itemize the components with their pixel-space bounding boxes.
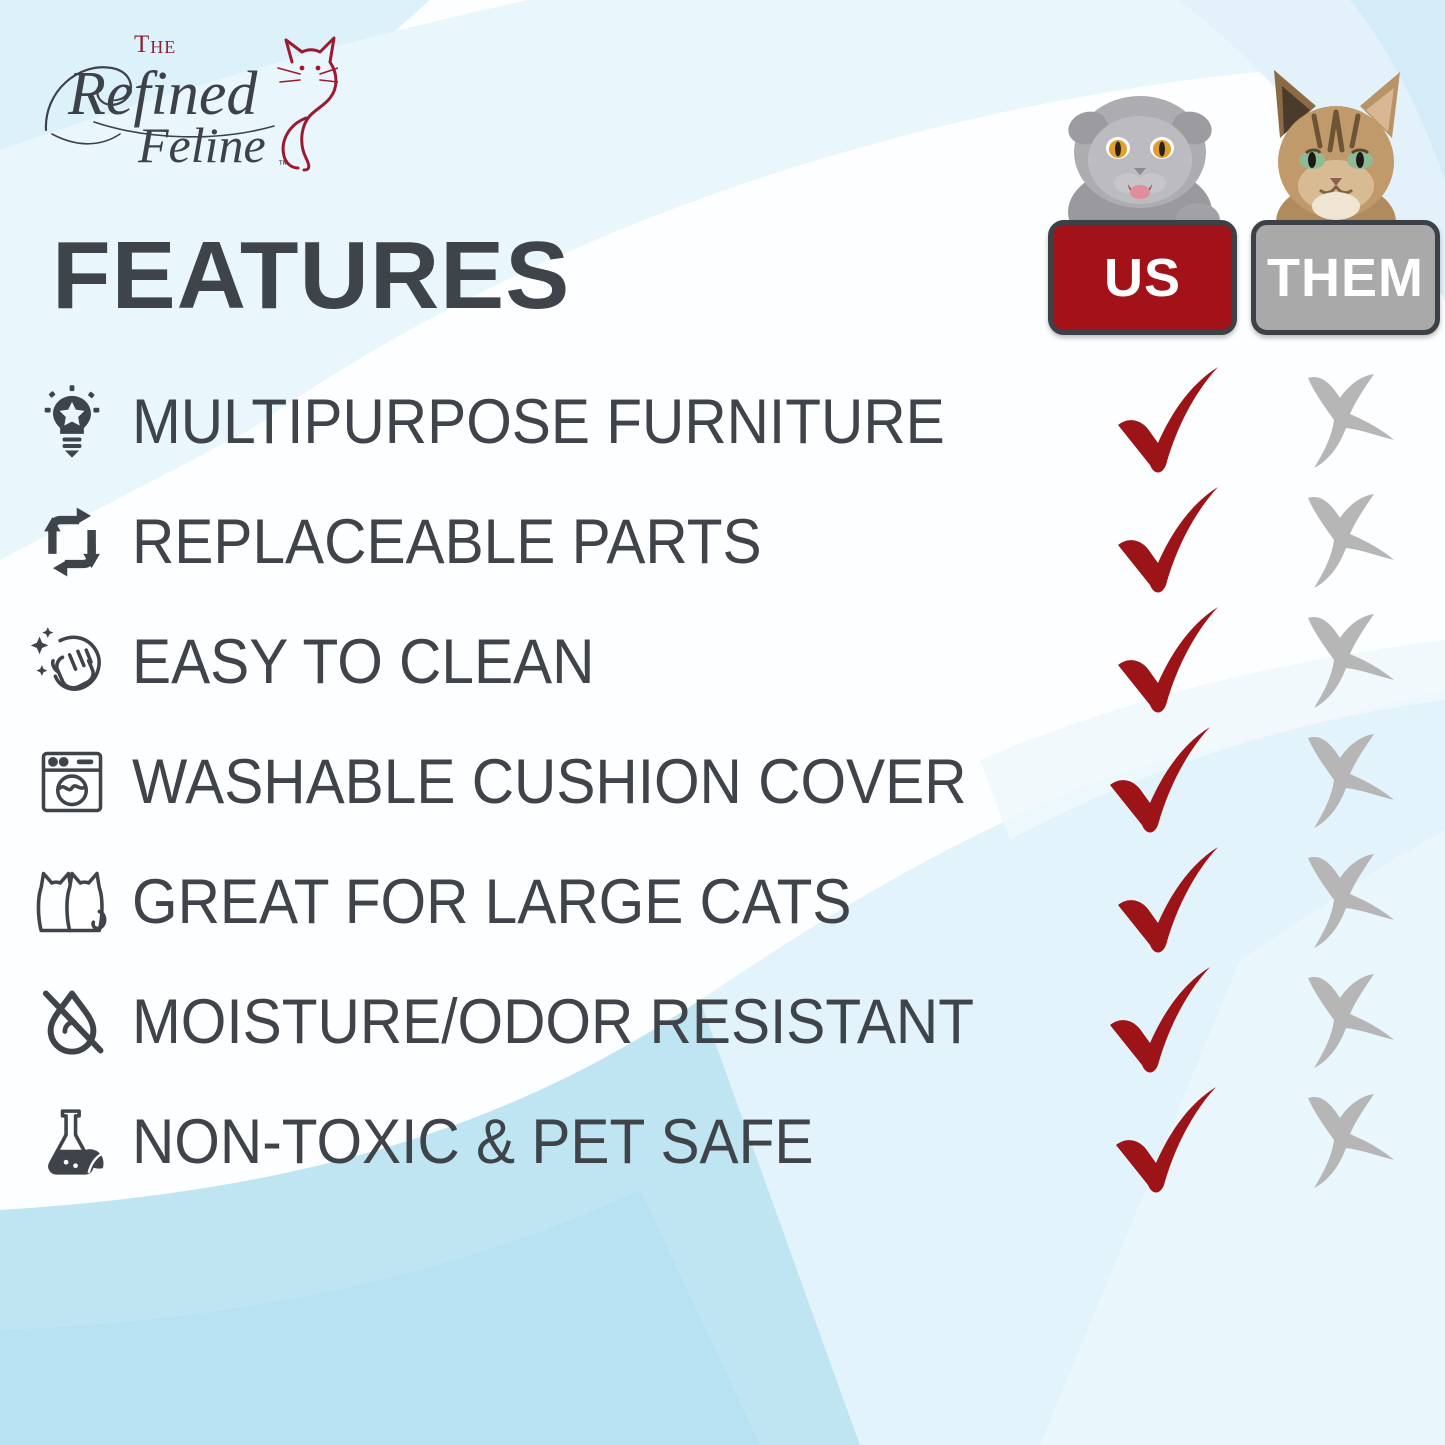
two-cats-icon — [30, 860, 114, 944]
gray-cross-icon — [1296, 852, 1406, 952]
svg-text:Feline: Feline — [137, 117, 266, 173]
flask-leaf-icon — [30, 1100, 114, 1184]
feature-row: GREAT FOR LARGE CATS — [0, 842, 1445, 962]
them-cat-photo — [1244, 54, 1429, 244]
feature-label: WASHABLE CUSHION COVER — [132, 746, 1029, 818]
red-check-icon — [1108, 1087, 1228, 1197]
feature-label: MOISTURE/ODOR RESISTANT — [132, 986, 1037, 1058]
gray-cross-icon — [1296, 492, 1406, 592]
gray-cross-icon — [1296, 612, 1406, 712]
feature-label: NON-TOXIC & PET SAFE — [132, 1106, 865, 1178]
us-cat-photo — [1048, 52, 1233, 242]
red-check-icon — [1110, 847, 1230, 957]
svg-text:THE: THE — [134, 31, 176, 58]
lightbulb-star-icon — [30, 380, 114, 464]
feature-row: MULTIPURPOSE FURNITURE — [0, 362, 1445, 482]
cleaning-hand-icon — [30, 620, 114, 704]
feature-row: REPLACEABLE PARTS — [0, 482, 1445, 602]
badge-group: US THEM — [1048, 220, 1440, 335]
comparison-header: US THEM — [1048, 52, 1440, 335]
feature-label: REPLACEABLE PARTS — [132, 506, 809, 578]
page-title: FEATURES — [52, 228, 570, 324]
feature-comparison-page: THE Refined Feline ™ — [0, 0, 1445, 1445]
gray-cross-icon — [1296, 372, 1406, 472]
feature-label: GREAT FOR LARGE CATS — [132, 866, 906, 938]
brand-logo[interactable]: THE Refined Feline ™ — [38, 22, 338, 177]
brand-logo-svg: THE Refined Feline ™ — [38, 22, 338, 177]
gray-cross-icon — [1296, 732, 1406, 832]
feature-row: WASHABLE CUSHION COVER — [0, 722, 1445, 842]
no-water-drop-icon — [30, 980, 114, 1064]
feature-list: MULTIPURPOSE FURNITURE REPLACEABLE PARTS — [0, 362, 1445, 1202]
brown-tabby-cat-icon — [1244, 54, 1429, 244]
red-check-icon — [1110, 367, 1230, 477]
feature-label: EASY TO CLEAN — [132, 626, 629, 698]
washing-machine-icon — [30, 740, 114, 824]
gray-cross-icon — [1296, 1092, 1406, 1192]
red-check-icon — [1110, 607, 1230, 717]
feature-label: MULTIPURPOSE FURNITURE — [132, 386, 1006, 458]
red-check-icon — [1102, 967, 1222, 1077]
recycle-arrows-icon — [30, 500, 114, 584]
feature-row: MOISTURE/ODOR RESISTANT — [0, 962, 1445, 1082]
gray-cross-icon — [1296, 972, 1406, 1072]
them-badge[interactable]: THEM — [1251, 220, 1440, 335]
feature-row: NON-TOXIC & PET SAFE — [0, 1082, 1445, 1202]
red-check-icon — [1102, 727, 1222, 837]
feature-row: EASY TO CLEAN — [0, 602, 1445, 722]
gray-scottish-fold-cat-icon — [1048, 52, 1233, 242]
us-badge[interactable]: US — [1048, 220, 1237, 335]
red-check-icon — [1110, 487, 1230, 597]
